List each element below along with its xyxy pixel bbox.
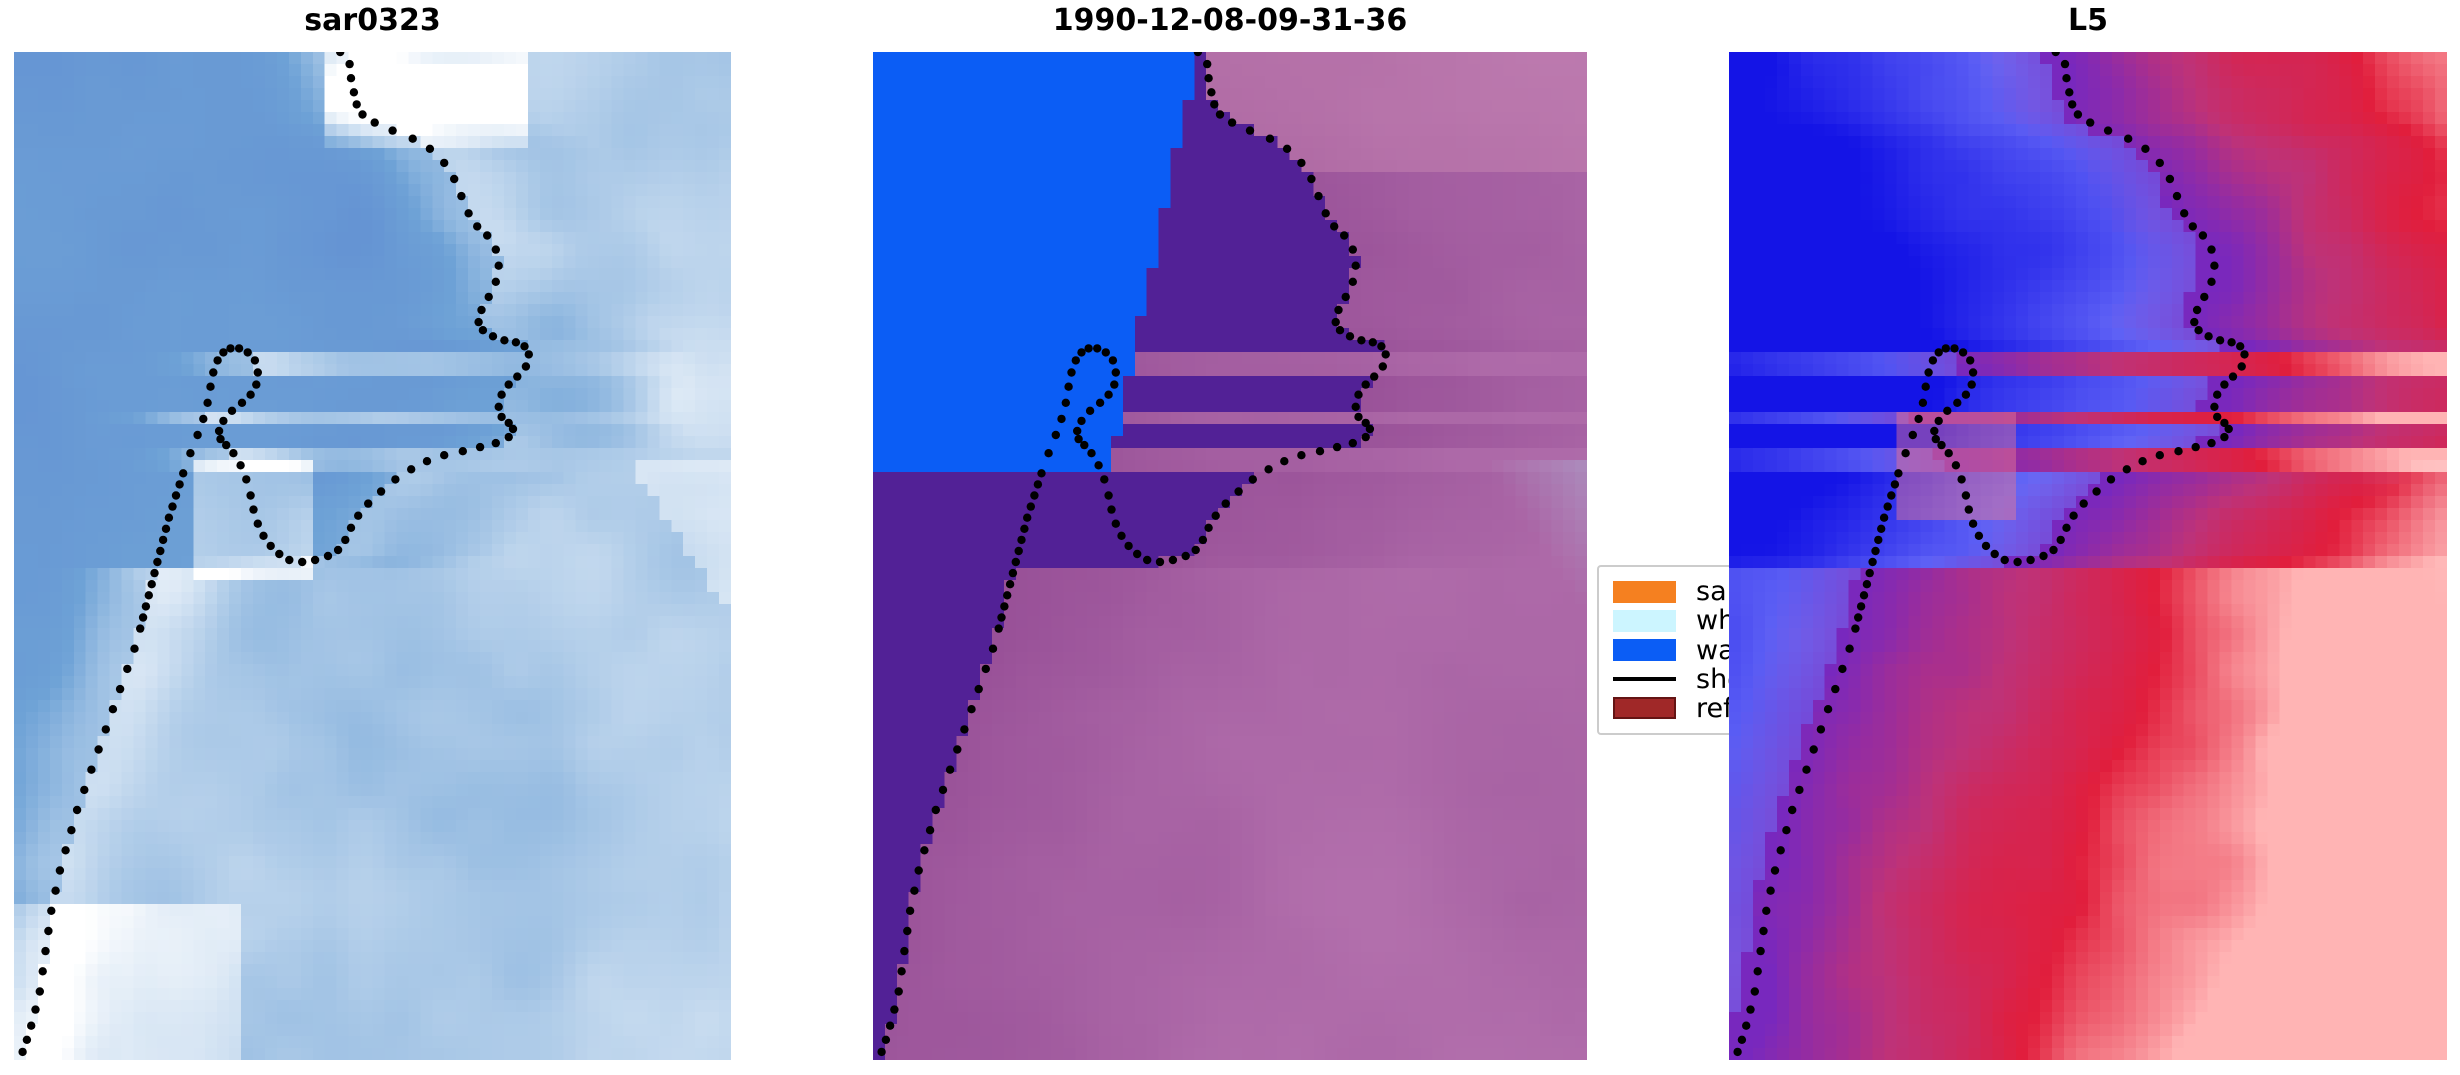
legend-label-water: water [1696, 637, 1729, 664]
panel-title-classification: 1990-12-08-09-31-36 [873, 6, 1587, 36]
whitewater-color-swatch [1613, 610, 1676, 632]
shoreline-line-swatch [1613, 668, 1676, 690]
water-color-swatch [1613, 639, 1676, 661]
legend-label-shoreline: shoreline [1696, 666, 1729, 693]
l5-image-panel[interactable] [1729, 52, 2447, 1060]
legend-label-sand: sand [1696, 578, 1729, 605]
legend-item-whitewater: whitewater [1613, 606, 1729, 635]
panel-title-l5: L5 [1729, 6, 2447, 36]
legend-label-whitewater: whitewater [1696, 607, 1729, 634]
map-legend: sand whitewater water shoreline referenc… [1597, 565, 1729, 735]
legend-item-shoreline: shoreline [1613, 665, 1729, 694]
legend-item-water: water [1613, 635, 1729, 664]
figure-canvas: sar0323 1990-12-08-09-31-36 L5 sand whit… [0, 0, 2460, 1075]
legend-item-reference-shoreline: reference shoreline [1613, 694, 1729, 723]
legend-label-reference-shoreline: reference shoreline [1696, 695, 1729, 722]
legend-clip-region: sand whitewater water shoreline referenc… [1597, 565, 1729, 735]
legend-item-sand: sand [1613, 577, 1729, 606]
sand-color-swatch [1613, 581, 1676, 603]
sar-image-panel[interactable] [14, 52, 731, 1060]
classification-image-panel[interactable] [873, 52, 1587, 1060]
panel-title-sar: sar0323 [14, 6, 731, 36]
reference-shoreline-color-swatch [1613, 697, 1676, 719]
